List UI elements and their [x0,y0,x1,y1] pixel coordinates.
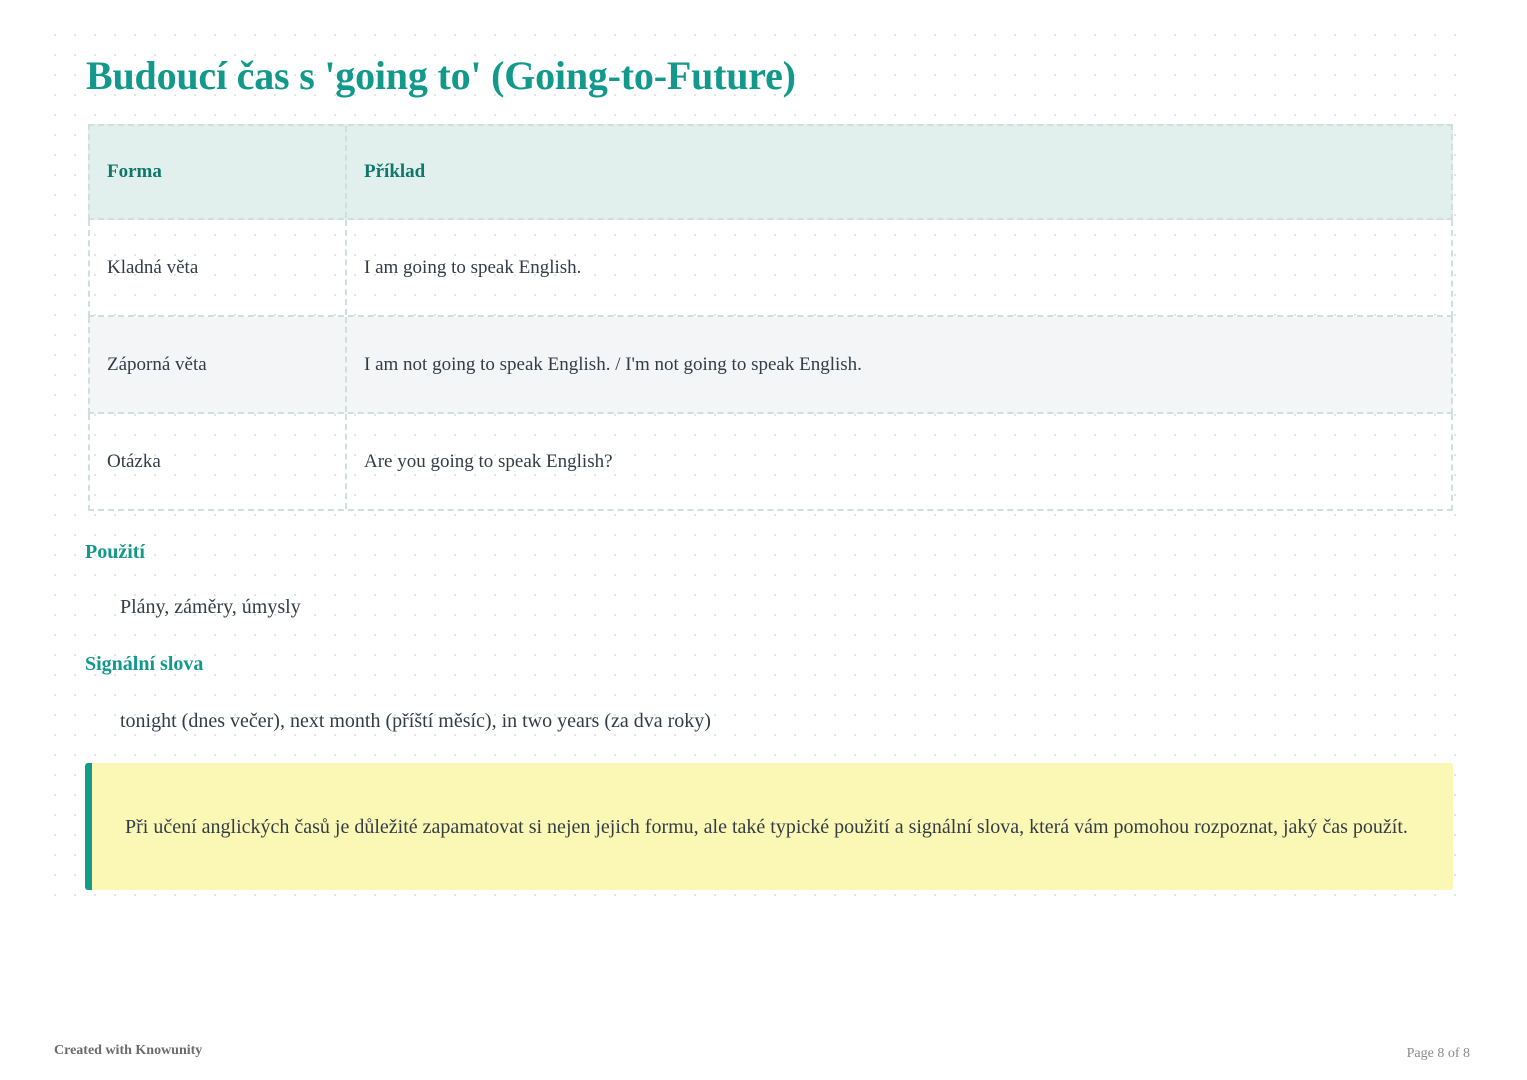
section-heading-usage: Použití [85,541,145,564]
section-heading-signal-words: Signální slova [85,653,203,676]
table-header-forma: Forma [90,126,347,218]
table-cell-priklad: I am not going to speak English. / I'm n… [347,317,1451,412]
table-header-priklad: Příklad [347,126,1451,218]
table-row: Záporná věta I am not going to speak Eng… [88,317,1453,414]
table-header-row: Forma Příklad [88,124,1453,220]
table-row: Kladná věta I am going to speak English. [88,220,1453,317]
section-item-signal-words: tonight (dnes večer), next month (příští… [120,710,711,733]
section-item-usage: Plány, záměry, úmysly [120,596,301,619]
footer-credit: Created with Knowunity [54,1043,202,1059]
tip-callout-text: Při učení anglických časů je důležité za… [92,807,1438,847]
table-cell-priklad: I am going to speak English. [347,220,1451,315]
table-row: Otázka Are you going to speak English? [88,414,1453,511]
page-title: Budoucí čas s 'going to' (Going-to-Futur… [86,52,796,99]
table-cell-forma: Záporná věta [90,317,347,412]
table-cell-forma: Kladná věta [90,220,347,315]
forms-table: Forma Příklad Kladná věta I am going to … [88,124,1453,511]
footer-page-number: Page 8 of 8 [1407,1046,1470,1062]
table-cell-priklad: Are you going to speak English? [347,414,1451,509]
table-cell-forma: Otázka [90,414,347,509]
document-content: Budoucí čas s 'going to' (Going-to-Futur… [0,0,1527,1080]
tip-callout: Při učení anglických časů je důležité za… [85,763,1453,890]
